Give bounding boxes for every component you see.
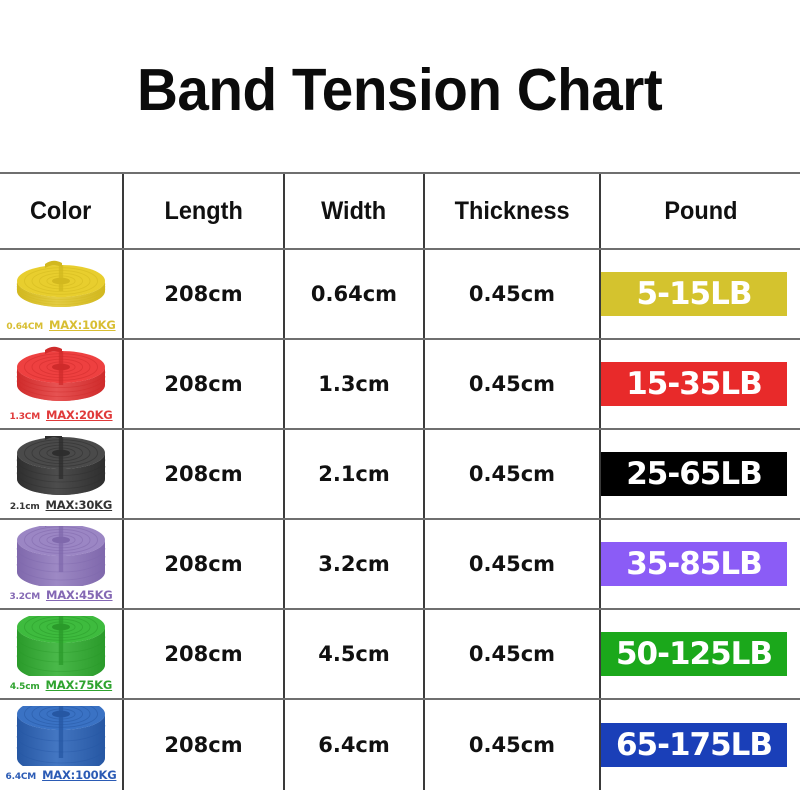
band-color-cell: 1.3CM MAX:20KG xyxy=(0,340,124,428)
table-row: 4.5cm MAX:75KG 208cm 4.5cm 0.45cm 50-125… xyxy=(0,610,800,700)
band-length-cell: 208cm xyxy=(124,520,285,608)
table-row: 1.3CM MAX:20KG 208cm 1.3cm 0.45cm 15-35L… xyxy=(0,340,800,430)
header-label-color: Color xyxy=(30,197,91,226)
resistance-band-icon xyxy=(9,616,113,676)
pound-range-badge: 35-85LB xyxy=(601,542,787,586)
band-color-cell: 3.2CM MAX:45KG xyxy=(0,520,124,608)
header-label-pound: Pound xyxy=(664,197,737,226)
resistance-band-icon xyxy=(9,256,113,316)
band-color-cell: 0.64CM MAX:10KG xyxy=(0,250,124,338)
header-label-width: Width xyxy=(321,197,386,226)
page-title: Band Tension Chart xyxy=(0,40,800,140)
table-body: 0.64CM MAX:10KG 208cm 0.64cm 0.45cm 5-15… xyxy=(0,250,800,790)
pound-range-badge: 25-65LB xyxy=(601,452,787,496)
header-label-thickness: Thickness xyxy=(455,197,570,226)
band-length-value: 208cm xyxy=(164,282,242,306)
band-caption-size: 2.1cm xyxy=(10,502,40,512)
band-caption-max: MAX:100KG xyxy=(42,768,116,782)
band-width-cell: 3.2cm xyxy=(285,520,425,608)
band-width-cell: 6.4cm xyxy=(285,700,425,790)
band-width-value: 6.4cm xyxy=(318,733,390,757)
resistance-band-icon xyxy=(9,706,113,766)
band-caption-max: MAX:30KG xyxy=(46,498,113,512)
table-row: 6.4CM MAX:100KG 208cm 6.4cm 0.45cm 65-17… xyxy=(0,700,800,790)
pound-range-badge: 5-15LB xyxy=(601,272,787,316)
band-width-value: 3.2cm xyxy=(318,552,390,576)
table-row: 0.64CM MAX:10KG 208cm 0.64cm 0.45cm 5-15… xyxy=(0,250,800,340)
band-thickness-value: 0.45cm xyxy=(469,462,555,486)
band-pound-cell: 15-35LB xyxy=(601,340,800,428)
band-width-value: 2.1cm xyxy=(318,462,390,486)
band-color-cell: 2.1cm MAX:30KG xyxy=(0,430,124,518)
header-cell-width: Width xyxy=(285,174,425,248)
band-length-cell: 208cm xyxy=(124,430,285,518)
header-label-length: Length xyxy=(164,197,242,226)
band-caption-max: MAX:20KG xyxy=(46,408,113,422)
band-width-value: 4.5cm xyxy=(318,642,390,666)
band-width-cell: 0.64cm xyxy=(285,250,425,338)
band-caption: 3.2CM MAX:45KG xyxy=(9,588,112,602)
band-thickness-cell: 0.45cm xyxy=(425,520,601,608)
band-thickness-cell: 0.45cm xyxy=(425,340,601,428)
band-thickness-value: 0.45cm xyxy=(469,552,555,576)
band-caption: 0.64CM MAX:10KG xyxy=(6,318,115,332)
band-thickness-cell: 0.45cm xyxy=(425,250,601,338)
band-caption: 2.1cm MAX:30KG xyxy=(10,498,112,512)
header-cell-thickness: Thickness xyxy=(425,174,601,248)
band-length-cell: 208cm xyxy=(124,250,285,338)
band-caption: 4.5cm MAX:75KG xyxy=(10,678,112,692)
band-thickness-value: 0.45cm xyxy=(469,372,555,396)
band-length-cell: 208cm xyxy=(124,610,285,698)
band-thickness-value: 0.45cm xyxy=(469,282,555,306)
header-cell-pound: Pound xyxy=(601,174,800,248)
resistance-band-icon xyxy=(9,436,113,496)
band-caption-size: 3.2CM xyxy=(9,592,40,602)
band-caption: 1.3CM MAX:20KG xyxy=(9,408,112,422)
table-header-row: Color Length Width Thickness Pound xyxy=(0,174,800,250)
resistance-band-icon xyxy=(9,526,113,586)
resistance-band-icon xyxy=(9,346,113,406)
band-width-value: 1.3cm xyxy=(318,372,390,396)
band-thickness-value: 0.45cm xyxy=(469,733,555,757)
header-cell-length: Length xyxy=(124,174,285,248)
band-caption-max: MAX:45KG xyxy=(46,588,113,602)
band-length-value: 208cm xyxy=(164,552,242,576)
pound-range-badge: 65-175LB xyxy=(601,723,787,767)
page-title-text: Band Tension Chart xyxy=(137,61,662,120)
band-pound-cell: 50-125LB xyxy=(601,610,800,698)
band-thickness-cell: 0.45cm xyxy=(425,610,601,698)
band-length-cell: 208cm xyxy=(124,700,285,790)
band-length-value: 208cm xyxy=(164,462,242,486)
band-thickness-value: 0.45cm xyxy=(469,642,555,666)
pound-range-badge: 15-35LB xyxy=(601,362,787,406)
band-thickness-cell: 0.45cm xyxy=(425,700,601,790)
band-pound-cell: 65-175LB xyxy=(601,700,800,790)
table-row: 3.2CM MAX:45KG 208cm 3.2cm 0.45cm 35-85L… xyxy=(0,520,800,610)
band-pound-cell: 5-15LB xyxy=(601,250,800,338)
band-pound-cell: 25-65LB xyxy=(601,430,800,518)
band-caption-size: 6.4CM xyxy=(6,772,37,782)
band-length-value: 208cm xyxy=(164,642,242,666)
band-width-value: 0.64cm xyxy=(311,282,397,306)
band-thickness-cell: 0.45cm xyxy=(425,430,601,518)
band-caption-size: 1.3CM xyxy=(9,412,40,422)
band-width-cell: 2.1cm xyxy=(285,430,425,518)
band-caption-size: 4.5cm xyxy=(10,682,40,692)
band-caption: 6.4CM MAX:100KG xyxy=(6,768,117,782)
table-row: 2.1cm MAX:30KG 208cm 2.1cm 0.45cm 25-65L… xyxy=(0,430,800,520)
band-width-cell: 4.5cm xyxy=(285,610,425,698)
tension-table: Color Length Width Thickness Pound xyxy=(0,172,800,797)
band-caption-max: MAX:10KG xyxy=(49,318,116,332)
band-length-value: 208cm xyxy=(164,372,242,396)
band-length-value: 208cm xyxy=(164,733,242,757)
band-length-cell: 208cm xyxy=(124,340,285,428)
band-caption-size: 0.64CM xyxy=(6,322,43,332)
band-width-cell: 1.3cm xyxy=(285,340,425,428)
band-color-cell: 6.4CM MAX:100KG xyxy=(0,700,124,790)
band-tension-chart-page: Band Tension Chart Color Length Width Th… xyxy=(0,0,800,800)
header-cell-color: Color xyxy=(0,174,124,248)
band-pound-cell: 35-85LB xyxy=(601,520,800,608)
band-caption-max: MAX:75KG xyxy=(46,678,113,692)
band-color-cell: 4.5cm MAX:75KG xyxy=(0,610,124,698)
pound-range-badge: 50-125LB xyxy=(601,632,787,676)
